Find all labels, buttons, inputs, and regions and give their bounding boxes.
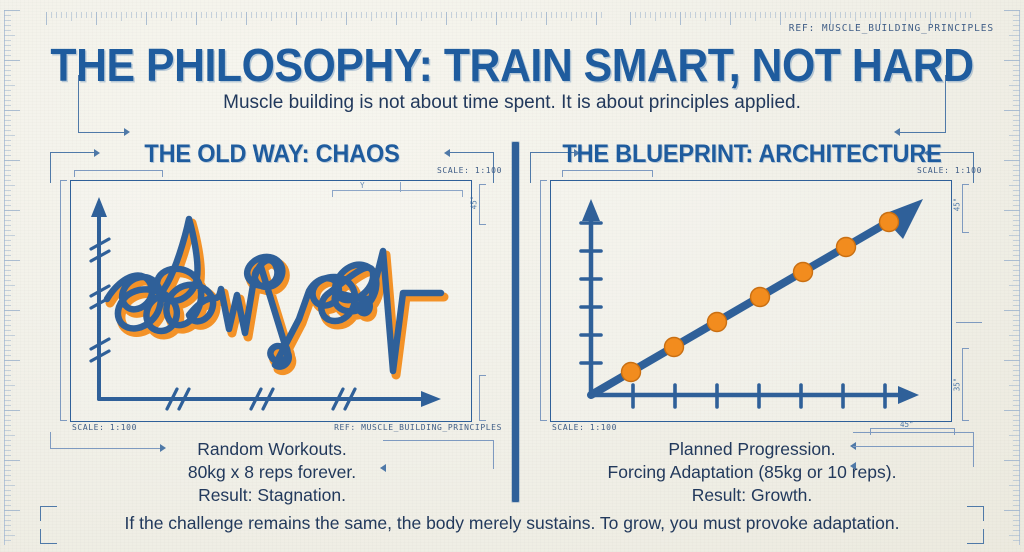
right-dim-top-line [962,184,963,232]
left-dim-side [60,180,61,420]
left-panel-ref-bottom: REF: MUSCLE_BUILDING_PRINCIPLES [334,423,502,432]
y-axis-arrowhead [91,197,107,217]
footer: If the challenge remains the same, the b… [38,504,986,546]
ruler-top-left [46,12,606,28]
right-dim-bottom-label: 35" [952,378,961,392]
left-chart-frame [70,180,472,422]
left-dim-right-line [479,184,480,224]
left-panel-title: THE OLD WAY: CHAOS [56,140,488,169]
page-title: THE PHILOSOPHY: TRAIN SMART, NOT HARD [36,38,988,92]
right-panel-title: THE BLUEPRINT: ARCHITECTURE [536,140,968,169]
left-caption-line-1: Random Workouts. [42,438,502,461]
panel-old-way: THE OLD WAY: CHAOS SCALE: 1:100 Y 45" [42,140,502,495]
left-panel-scale-top: SCALE: 1:100 [437,166,502,175]
right-dim-bottom-line [962,348,963,420]
chaos-chart [71,181,471,421]
right-dim-side [540,180,541,420]
header: REF: MUSCLE_BUILDING_PRINCIPLES THE PHIL… [0,30,1024,130]
header-ref-label: REF: MUSCLE_BUILDING_PRINCIPLES [789,23,994,34]
left-panel-caption: Random Workouts. 80kg x 8 reps forever. … [42,438,502,507]
y-axis-arrowhead [582,199,600,221]
right-panel-scale-top: SCALE: 1:100 [917,166,982,175]
blueprint-sheet: REF: MUSCLE_BUILDING_PRINCIPLES THE PHIL… [0,0,1024,552]
right-dim-top [562,170,652,171]
page-subtitle: Muscle building is not about time spent.… [0,92,1024,114]
blueprint-chart [551,181,951,421]
x-axis-arrowhead [421,391,441,407]
right-dim-top-label: 45" [952,198,961,212]
right-caption-line-1: Planned Progression. [522,438,982,461]
panel-blueprint: THE BLUEPRINT: ARCHITECTURE SCALE: 1:100… [522,140,982,495]
left-dim-top [74,170,162,171]
x-axis-arrowhead [898,386,919,404]
right-panel-caption: Planned Progression. Forcing Adaptation … [522,438,982,507]
right-chart-frame [550,180,952,422]
right-panel-scale-bottom: SCALE: 1:100 [552,423,617,432]
left-caption-line-2: 80kg x 8 reps forever. [42,461,502,484]
panel-divider [512,142,519,502]
right-caption-line-2: Forcing Adaptation (85kg or 10 reps). [522,461,982,484]
left-panel-scale-bottom: SCALE: 1:100 [72,423,137,432]
footer-text: If the challenge remains the same, the b… [38,513,986,534]
